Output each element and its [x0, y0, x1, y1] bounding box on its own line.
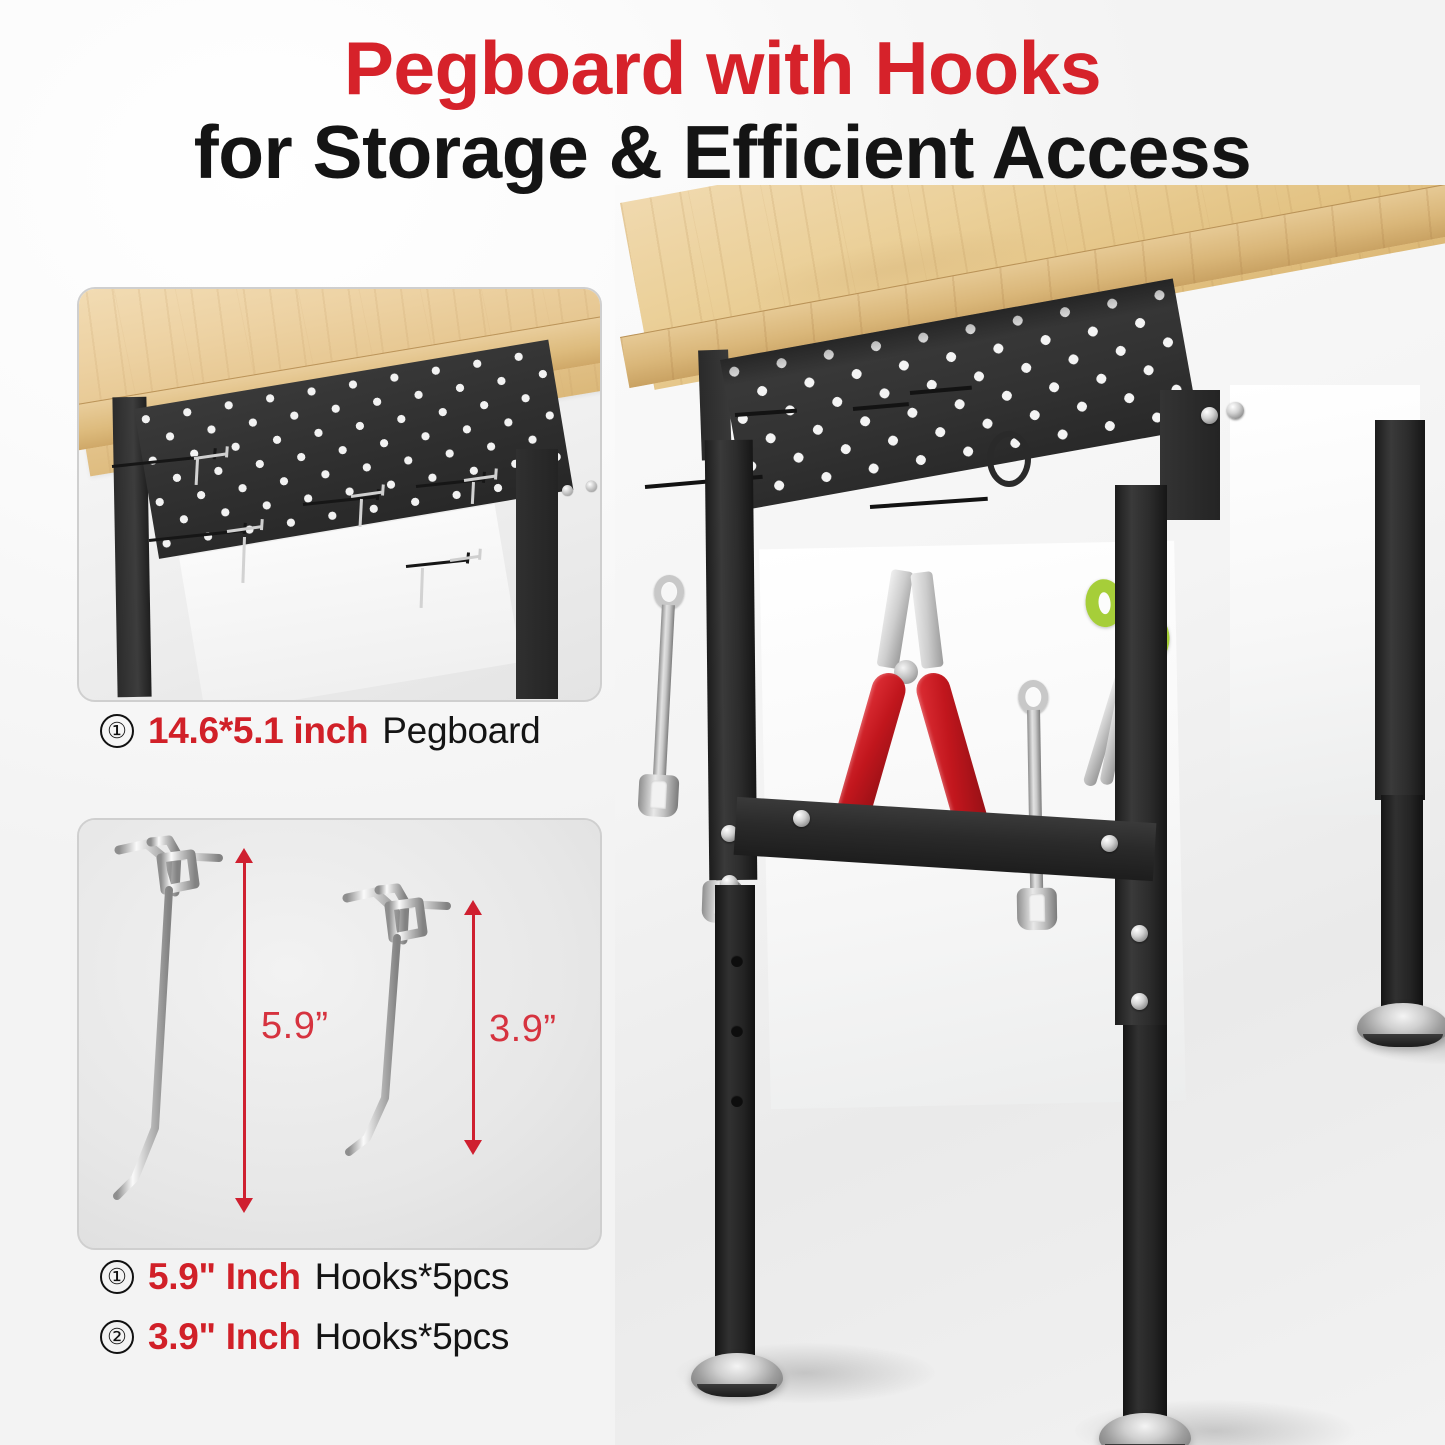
leg-adjust-hole — [731, 955, 743, 967]
leg-right-lower — [1123, 1025, 1167, 1425]
brace-bolt — [793, 810, 810, 827]
frame-bolt — [562, 485, 573, 496]
circled-number-1: ① — [100, 1260, 134, 1294]
infographic-page: Pegboard with Hooks for Storage & Effici… — [0, 0, 1445, 1445]
pliers-jaw — [910, 571, 944, 669]
caption-text: Hooks*5pcs — [315, 1316, 509, 1358]
frame-leg-right — [516, 449, 558, 699]
frame-bolt — [586, 481, 597, 492]
circled-number-2: ② — [100, 1320, 134, 1354]
caption-hook-long: ① 5.9" Inch Hooks*5pcs — [100, 1256, 509, 1298]
inset-pegboard-closeup — [77, 287, 602, 702]
title-line-2: for Storage & Efficient Access — [0, 111, 1445, 194]
leg-adjust-bolt — [1131, 993, 1148, 1010]
leg-far-right-lower — [1381, 795, 1423, 1015]
dim-arrow-down — [464, 1140, 482, 1155]
wrench-open-end — [637, 774, 679, 818]
leveling-foot — [1357, 1003, 1445, 1047]
inset-hooks-dimensions: 5.9” 3.9” — [77, 818, 602, 1250]
frame-bolt — [1201, 407, 1218, 424]
page-title: Pegboard with Hooks for Storage & Effici… — [0, 28, 1445, 194]
leg-adjust-hole — [731, 1025, 743, 1037]
caption-pegboard: ① 14.6*5.1 inch Pegboard — [100, 710, 540, 752]
wrench-open-end — [1017, 888, 1058, 931]
caption-highlight: 14.6*5.1 inch — [148, 710, 368, 752]
pliers-jaw — [876, 569, 913, 669]
leg-adjust-hole — [731, 1095, 743, 1107]
caption-highlight: 3.9" Inch — [148, 1316, 301, 1358]
dim-line — [243, 860, 246, 1200]
circled-number-1: ① — [100, 714, 134, 748]
brace-bolt — [1101, 835, 1118, 852]
caption-text: Pegboard — [382, 710, 540, 752]
leg-far-right-upper — [1375, 420, 1425, 800]
dim-arrow-down — [235, 1198, 253, 1213]
main-product-photo — [615, 185, 1445, 1445]
dimension-label-long: 5.9” — [261, 1005, 328, 1048]
leg-adjust-bolt — [1131, 925, 1148, 942]
title-line-1: Pegboard with Hooks — [0, 28, 1445, 109]
leveling-foot — [691, 1353, 783, 1397]
leg-right-upper — [1115, 485, 1167, 1025]
dim-line — [472, 912, 475, 1142]
caption-hook-short: ② 3.9" Inch Hooks*5pcs — [100, 1316, 509, 1358]
caption-highlight: 5.9" Inch — [148, 1256, 301, 1298]
caption-text: Hooks*5pcs — [315, 1256, 509, 1298]
hook-ring-loop — [987, 431, 1031, 487]
short-pegboard-hook — [337, 880, 512, 1210]
frame-bolt — [1227, 402, 1244, 419]
dimension-label-short: 3.9” — [489, 1008, 556, 1051]
